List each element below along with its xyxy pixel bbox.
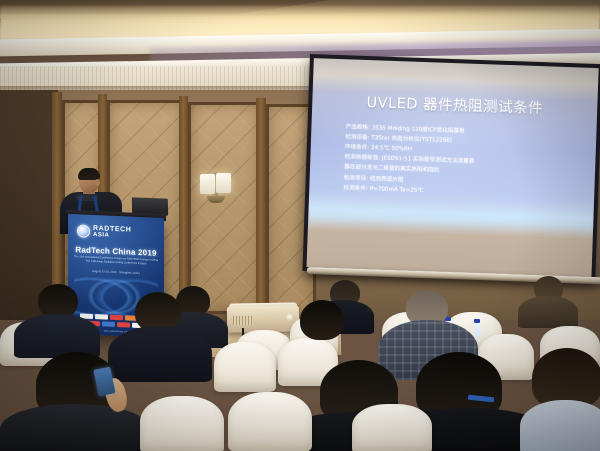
projection-screen: UVLED 器件热阻测试条件 产品规格: 3535 Molding 120度IC… <box>302 54 600 281</box>
sponsor-chip <box>117 322 130 328</box>
attendee-head-front-far-right <box>532 348 600 408</box>
attendee-body-far-2 <box>518 296 578 328</box>
slide-body: 产品规格: 3535 Molding 120度ICP氮化铝基板 检测设备: T3… <box>343 122 590 202</box>
conference-chair <box>228 392 312 451</box>
attendee-head-mid-1 <box>38 284 78 318</box>
attendee-body-mid-2 <box>108 326 212 382</box>
projected-slide: UVLED 器件热阻测试条件 产品规格: 3535 Molding 120度IC… <box>307 58 599 277</box>
attendee-body-front-far-right <box>520 400 600 451</box>
water-bottle <box>474 321 481 338</box>
sconce-shade-left <box>200 174 215 194</box>
sponsor-chip <box>102 321 115 327</box>
door-frame-mid-b <box>179 96 188 318</box>
sconce-shade-right <box>216 173 231 193</box>
projector-vent <box>233 316 253 325</box>
sponsor-chip <box>110 315 123 321</box>
attendee-body-front-phone <box>0 404 150 451</box>
wall-panel-3 <box>188 102 262 314</box>
projector-lens <box>286 313 295 322</box>
attendee-body-mid-1 <box>14 314 100 358</box>
conference-chair <box>140 396 224 451</box>
conference-chair <box>214 342 276 392</box>
speaker-ear <box>95 179 100 186</box>
conference-chair <box>352 404 432 451</box>
sponsor-chip <box>95 314 108 320</box>
bottle-cap <box>474 319 480 323</box>
globe-icon <box>77 224 90 238</box>
attendee-head-front-0 <box>300 300 344 340</box>
conference-photo: UVLED 器件热阻测试条件 产品规格: 3535 Molding 120度IC… <box>0 0 600 451</box>
door-frame-mid-c <box>256 98 266 318</box>
